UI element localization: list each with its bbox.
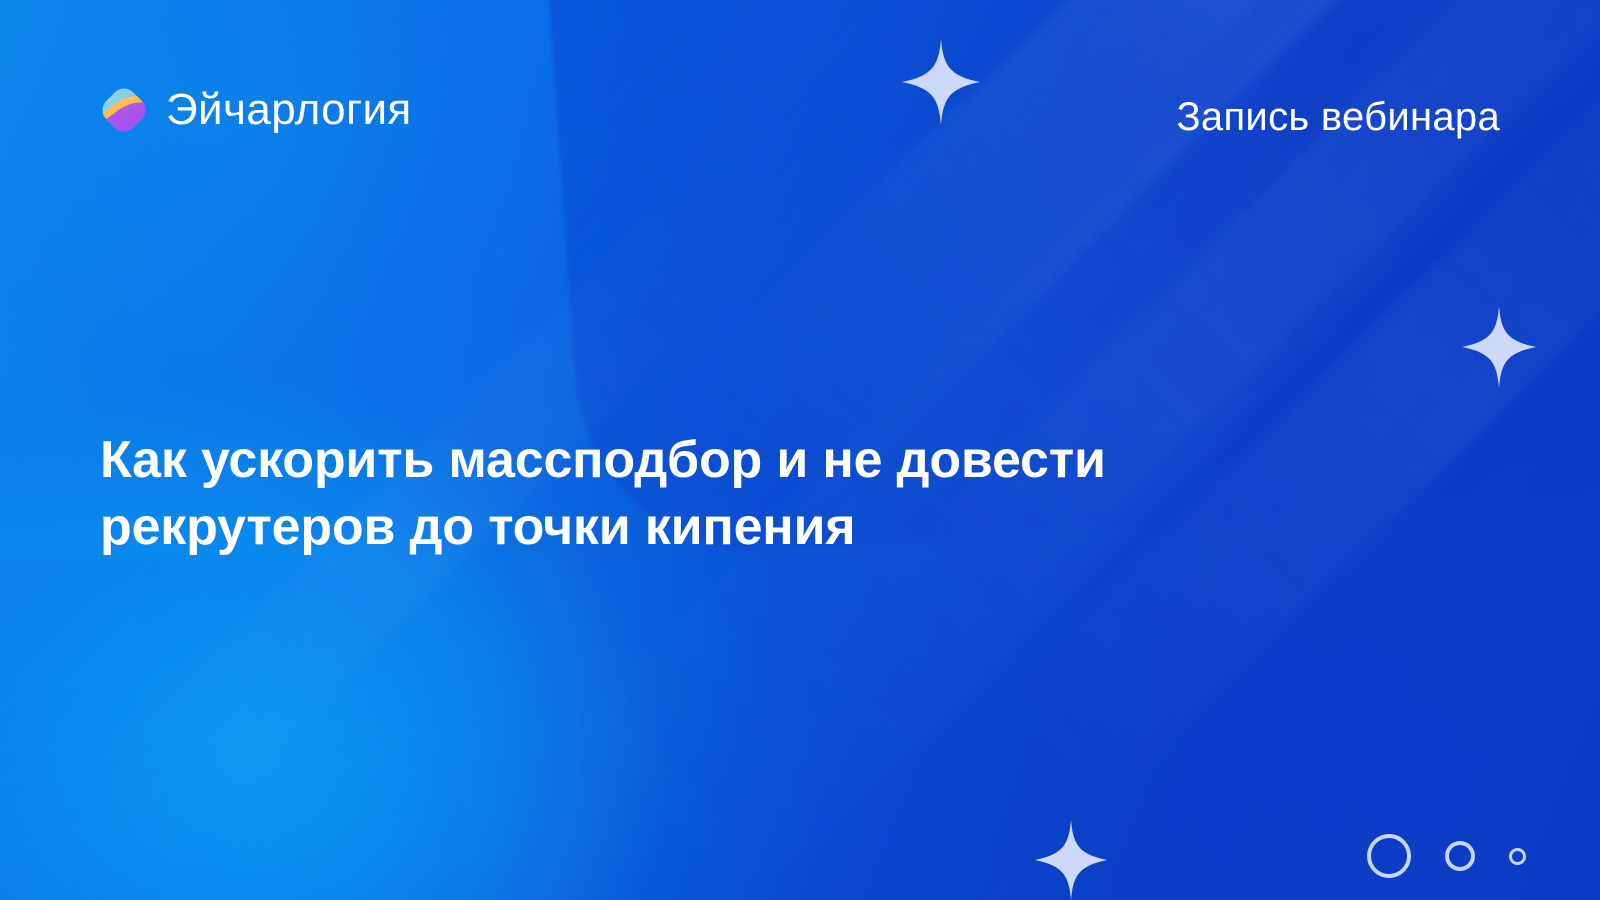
rounded-diamond-logo-icon — [100, 86, 148, 134]
four-point-star-icon — [902, 38, 980, 126]
brand-logo[interactable]: Эйчарлогия — [100, 86, 412, 134]
decorative-circles — [1367, 834, 1526, 878]
headline-line-1: Как ускорить массподбор и не довести — [100, 427, 1280, 495]
page-title: Как ускорить массподбор и не довести рек… — [100, 427, 1280, 562]
background-panel-bottom-left — [0, 560, 460, 900]
webinar-cover-slide: Эйчарлогия Запись вебинара Как ускорить … — [0, 0, 1600, 900]
brand-name: Эйчарлогия — [166, 88, 412, 132]
circle-medium-icon — [1445, 841, 1475, 871]
four-point-star-icon — [1034, 820, 1108, 900]
circle-large-icon — [1367, 834, 1411, 878]
four-point-star-icon — [1462, 305, 1536, 389]
webinar-type-label: Запись вебинара — [1176, 95, 1500, 139]
headline-line-2: рекрутеров до точки кипения — [100, 494, 1280, 562]
circle-small-icon — [1509, 848, 1526, 865]
